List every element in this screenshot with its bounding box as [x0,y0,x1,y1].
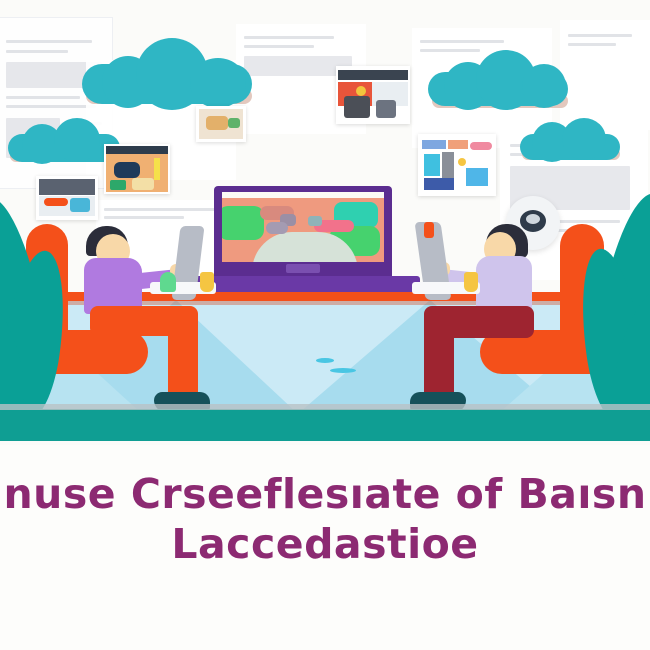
floor-band [0,409,650,441]
thumbnail-camera [36,176,98,220]
desk-cup-right [464,272,478,292]
thumbnail-topdown [336,66,410,124]
caption-block: nuse Crseeflesıate of Baısn Laccedastioe [0,448,650,648]
monitor-screen [222,192,384,262]
screenshot-root: nuse Crseeflesıate of Baısn Laccedastioe [0,0,650,650]
desk-plant-left [160,272,176,292]
illustration-scene [0,0,650,445]
desk-cup-left [200,272,214,292]
floor-edge [0,404,650,410]
cloud-top-right [428,50,568,112]
lamp-highlight-icon [526,214,540,224]
caption-line-1: nuse Crseeflesıate of Baısn [3,470,646,518]
cloud-top-left [82,38,252,110]
monitor-badge [286,264,320,273]
thumbnail-diagram [418,134,496,196]
thumbnail-food [104,144,170,194]
thumbnail-plate [196,106,246,142]
caption-line-2: Laccedastioe [171,518,478,570]
cloud-mid-right [520,118,620,162]
central-monitor[interactable] [214,186,392,282]
